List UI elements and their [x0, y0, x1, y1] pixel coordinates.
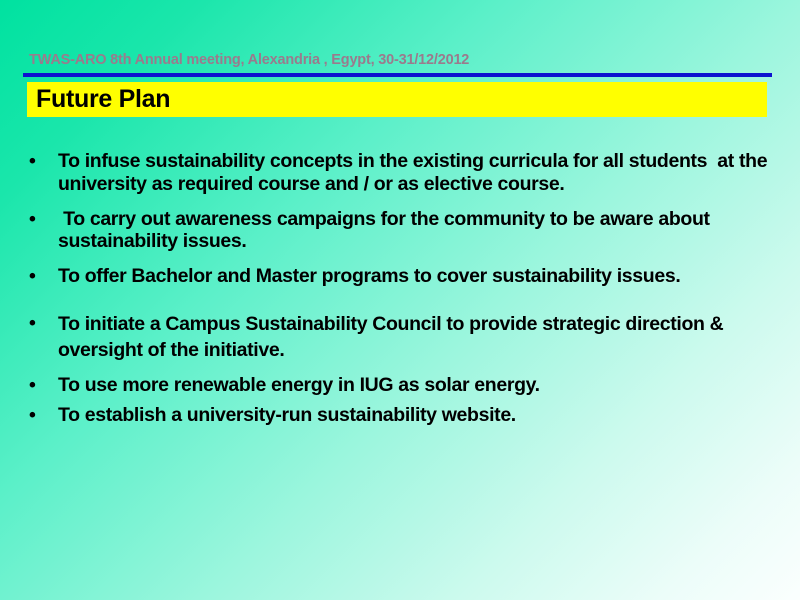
meeting-header: TWAS-ARO 8th Annual meeting, Alexandria … [29, 52, 469, 68]
bullet-marker-icon: • [22, 374, 58, 397]
list-item-text: To initiate a Campus Sustainability Coun… [58, 312, 778, 364]
list-item-text: To use more renewable energy in IUG as s… [58, 374, 778, 397]
list-item: • To infuse sustainability concepts in t… [22, 150, 778, 196]
header-divider-rule [23, 73, 772, 77]
list-item: • To carry out awareness campaigns for t… [22, 208, 778, 254]
list-item-text: To carry out awareness campaigns for the… [58, 208, 778, 254]
bullet-marker-icon: • [22, 150, 58, 173]
bullet-list: • To infuse sustainability concepts in t… [22, 150, 778, 427]
bullet-marker-icon: • [22, 312, 58, 335]
list-item: • To initiate a Campus Sustainability Co… [22, 312, 778, 364]
list-item: • To use more renewable energy in IUG as… [22, 374, 778, 397]
bullet-marker-icon: • [22, 208, 58, 231]
page-title: Future Plan [36, 85, 170, 114]
bullet-marker-icon: • [22, 404, 58, 427]
list-item: • To establish a university-run sustaina… [22, 404, 778, 427]
title-banner: Future Plan [27, 82, 767, 117]
list-item-text: To establish a university-run sustainabi… [58, 404, 778, 427]
list-item-text: To infuse sustainability concepts in the… [58, 150, 778, 196]
list-item-text: To offer Bachelor and Master programs to… [58, 265, 778, 288]
presentation-slide: TWAS-ARO 8th Annual meeting, Alexandria … [0, 0, 800, 600]
bullet-marker-icon: • [22, 265, 58, 288]
list-item: • To offer Bachelor and Master programs … [22, 265, 778, 288]
